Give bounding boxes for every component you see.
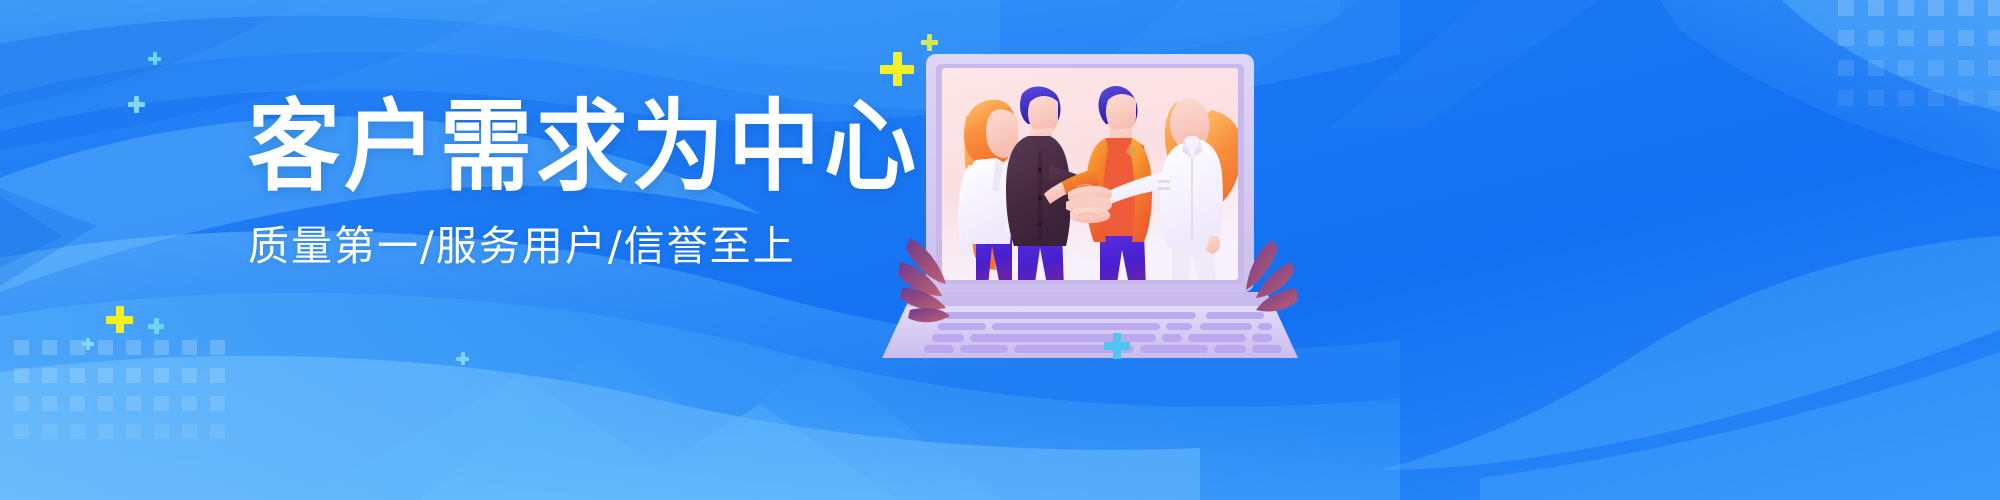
plus-yellow-bottom-left-icon: [106, 306, 133, 333]
plus-yellow-large-icon: [880, 52, 914, 86]
banner-headline: 客户需求为中心: [248, 98, 888, 197]
plus-cyan-small-left-icon: [82, 338, 94, 350]
promo-banner: 客户需求为中心 质量第一/服务用户/信誉至上: [0, 0, 2000, 500]
plus-cyan-mid-icon: [148, 52, 161, 65]
plus-cyan-left-icon: [148, 318, 164, 334]
plus-yellow-small-icon: [921, 34, 938, 51]
plus-cyan-bottom-icon: [1104, 333, 1130, 359]
banner-subtitle: 质量第一/服务用户/信誉至上: [248, 224, 888, 269]
plus-cyan-field-icon: [456, 352, 469, 365]
plus-cyan-topleft-icon: [128, 96, 145, 113]
headline-block: 客户需求为中心 质量第一/服务用户/信誉至上: [248, 98, 888, 269]
